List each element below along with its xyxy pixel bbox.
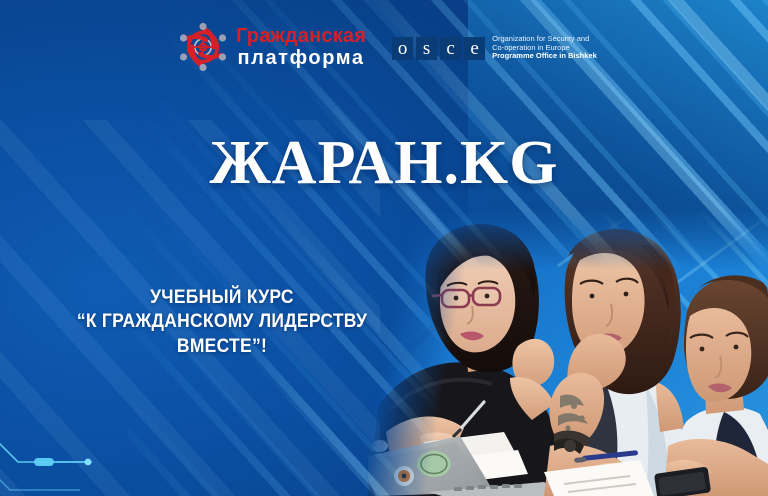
osce-descriptor: Organization for Security and Co-operati… [492, 35, 597, 62]
page-title: ЖАРАН.KG [0, 128, 768, 199]
civic-platform-emblem-icon [176, 20, 230, 74]
osce-letter-e: e [464, 37, 485, 60]
promo-banner: Гражданская платформа o s c e Organizati… [0, 0, 768, 496]
civic-platform-word-2: платформа [236, 48, 366, 68]
logo-row: Гражданская платформа o s c e Organizati… [176, 20, 597, 74]
course-subtitle: УЧЕБНЫЙ КУРС “К ГРАЖДАНСКОМУ ЛИДЕРСТВУ В… [38, 286, 406, 359]
civic-platform-logo[interactable]: Гражданская платформа [176, 20, 366, 74]
osce-logo[interactable]: o s c e Organization for Security and Co… [392, 35, 597, 62]
circuit-trace-decoration [0, 404, 180, 496]
osce-letter-c: c [440, 37, 461, 60]
course-subtitle-line-1: УЧЕБНЫЙ КУРС [38, 286, 406, 310]
osce-letter-o: o [392, 37, 413, 60]
osce-letter-s: s [416, 37, 437, 60]
civic-platform-word-1: Гражданская [236, 26, 366, 46]
course-subtitle-line-3: ВМЕСТЕ”! [38, 335, 406, 359]
event-photo: Три женщины за столом работают с ноутбук… [368, 206, 768, 496]
course-subtitle-line-2: “К ГРАЖДАНСКОМУ ЛИДЕРСТВУ [38, 310, 406, 334]
osce-wordmark: o s c e [392, 37, 485, 60]
osce-descriptor-line-3: Programme Office in Bishkek [492, 52, 597, 61]
